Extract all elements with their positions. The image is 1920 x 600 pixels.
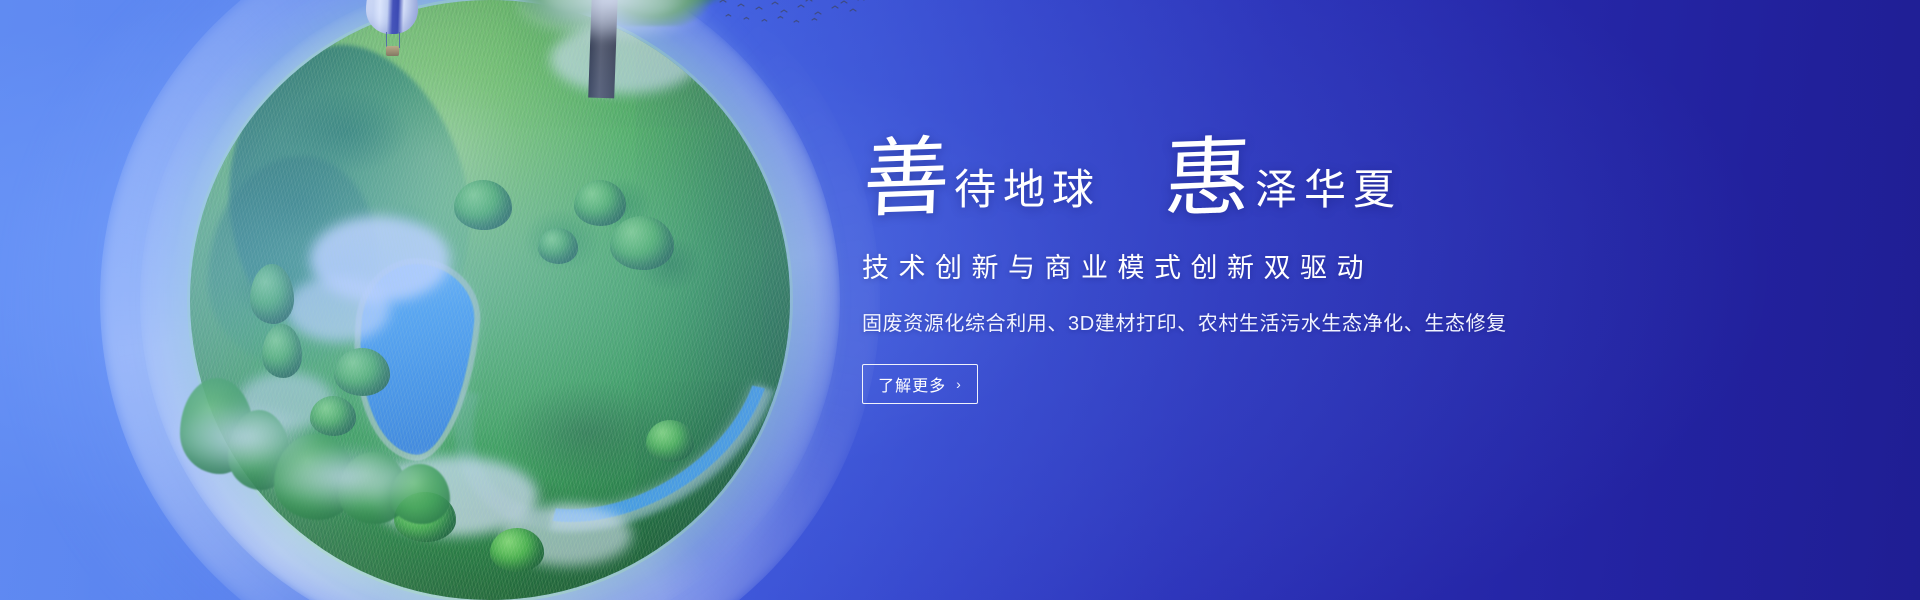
rim-trees [170, 348, 470, 538]
hot-air-balloon-icon [366, 0, 424, 62]
tree-clump [574, 180, 626, 226]
headline-char-1: 善 [862, 138, 951, 220]
hero-content: 善 待地球 惠 泽华夏 技术创新与商业模式创新双驱动 固废资源化综合利用、3D建… [862, 128, 1762, 404]
tree-clump [490, 528, 544, 572]
forest-ridge-secondary [208, 156, 378, 366]
earth-illustration [130, 0, 850, 600]
hero-tree [482, 0, 732, 98]
page-subtitle: 技术创新与商业模式创新双驱动 [862, 246, 1762, 285]
tree-clump [250, 264, 294, 324]
tree-clump [454, 180, 512, 230]
learn-more-button[interactable]: 了解更多 › [862, 364, 978, 404]
tree-clump [610, 216, 674, 270]
tree-mist [516, 0, 706, 40]
balloon-envelope [366, 0, 418, 34]
surface-cloud [310, 216, 450, 302]
tree-clump [538, 228, 578, 264]
bird-flock-icon [716, 0, 866, 30]
surface-cloud [286, 276, 390, 342]
river [418, 206, 790, 576]
surface-cloud [502, 504, 632, 566]
headline-char-2: 惠 [1163, 138, 1252, 220]
chevron-right-icon: › [956, 377, 962, 391]
headline-phrase-2: 泽华夏 [1255, 170, 1402, 220]
balloon-basket [386, 46, 399, 56]
page-title: 善 待地球 惠 泽华夏 [862, 128, 1762, 220]
headline-phrase-1: 待地球 [954, 170, 1101, 220]
page-description: 固废资源化综合利用、3D建材打印、农村生活污水生态净化、生态修复 [862, 307, 1762, 336]
forest-ridge [190, 18, 506, 377]
tree-clump [646, 420, 694, 462]
learn-more-label: 了解更多 [878, 372, 946, 396]
hero-banner: 善 待地球 惠 泽华夏 技术创新与商业模式创新双驱动 固废资源化综合利用、3D建… [0, 0, 1920, 600]
